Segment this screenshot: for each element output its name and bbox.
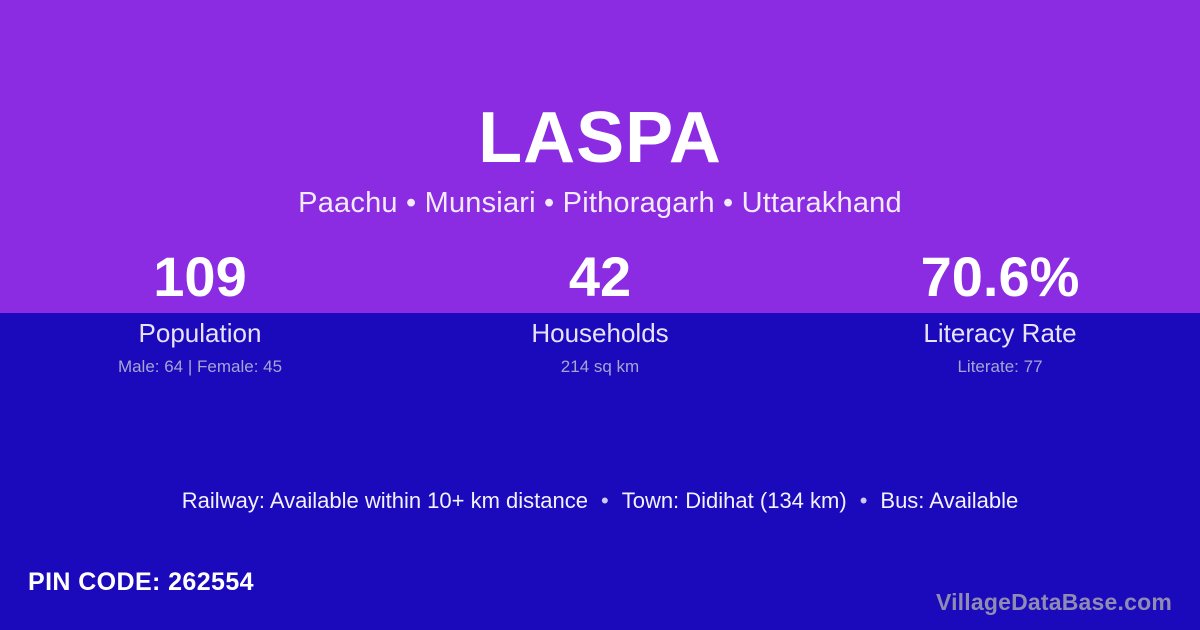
infrastructure-row: Railway: Available within 10+ km distanc… bbox=[0, 484, 1200, 518]
site-brand: VillageDataBase.com bbox=[936, 589, 1172, 620]
stat-households: 42 Households 214 sq km bbox=[400, 240, 800, 380]
stat-value: 42 bbox=[569, 240, 631, 313]
stat-label: Population bbox=[139, 319, 262, 348]
village-info-card: LASPA Paachu • Munsiari • Pithoragarh • … bbox=[0, 0, 1200, 630]
stat-literacy-rate: 70.6% Literacy Rate Literate: 77 bbox=[800, 240, 1200, 380]
stat-label: Households bbox=[531, 319, 668, 348]
stat-value: 109 bbox=[153, 240, 246, 313]
bullet-separator-icon: • bbox=[588, 488, 622, 514]
stat-detail: Literate: 77 bbox=[957, 358, 1042, 377]
stat-detail: Male: 64 | Female: 45 bbox=[118, 358, 282, 377]
stat-detail: 214 sq km bbox=[561, 358, 639, 377]
stats-row: 109 Population Male: 64 | Female: 45 42 … bbox=[0, 240, 1200, 380]
breadcrumb: Paachu • Munsiari • Pithoragarh • Uttara… bbox=[298, 187, 902, 220]
pin-code: PIN CODE: 262554 bbox=[28, 568, 254, 597]
infra-item-bus: Bus: Available bbox=[880, 488, 1018, 514]
page-title: LASPA bbox=[478, 102, 722, 175]
infra-item-railway: Railway: Available within 10+ km distanc… bbox=[182, 488, 588, 514]
bullet-separator-icon: • bbox=[847, 488, 881, 514]
stat-label: Literacy Rate bbox=[923, 319, 1076, 348]
stat-value: 70.6% bbox=[921, 240, 1080, 313]
footer: PIN CODE: 262554 VillageDataBase.com bbox=[0, 544, 1200, 630]
stat-population: 109 Population Male: 64 | Female: 45 bbox=[0, 240, 400, 380]
title-block: LASPA Paachu • Munsiari • Pithoragarh • … bbox=[0, 0, 1200, 240]
infra-item-town: Town: Didihat (134 km) bbox=[622, 488, 847, 514]
